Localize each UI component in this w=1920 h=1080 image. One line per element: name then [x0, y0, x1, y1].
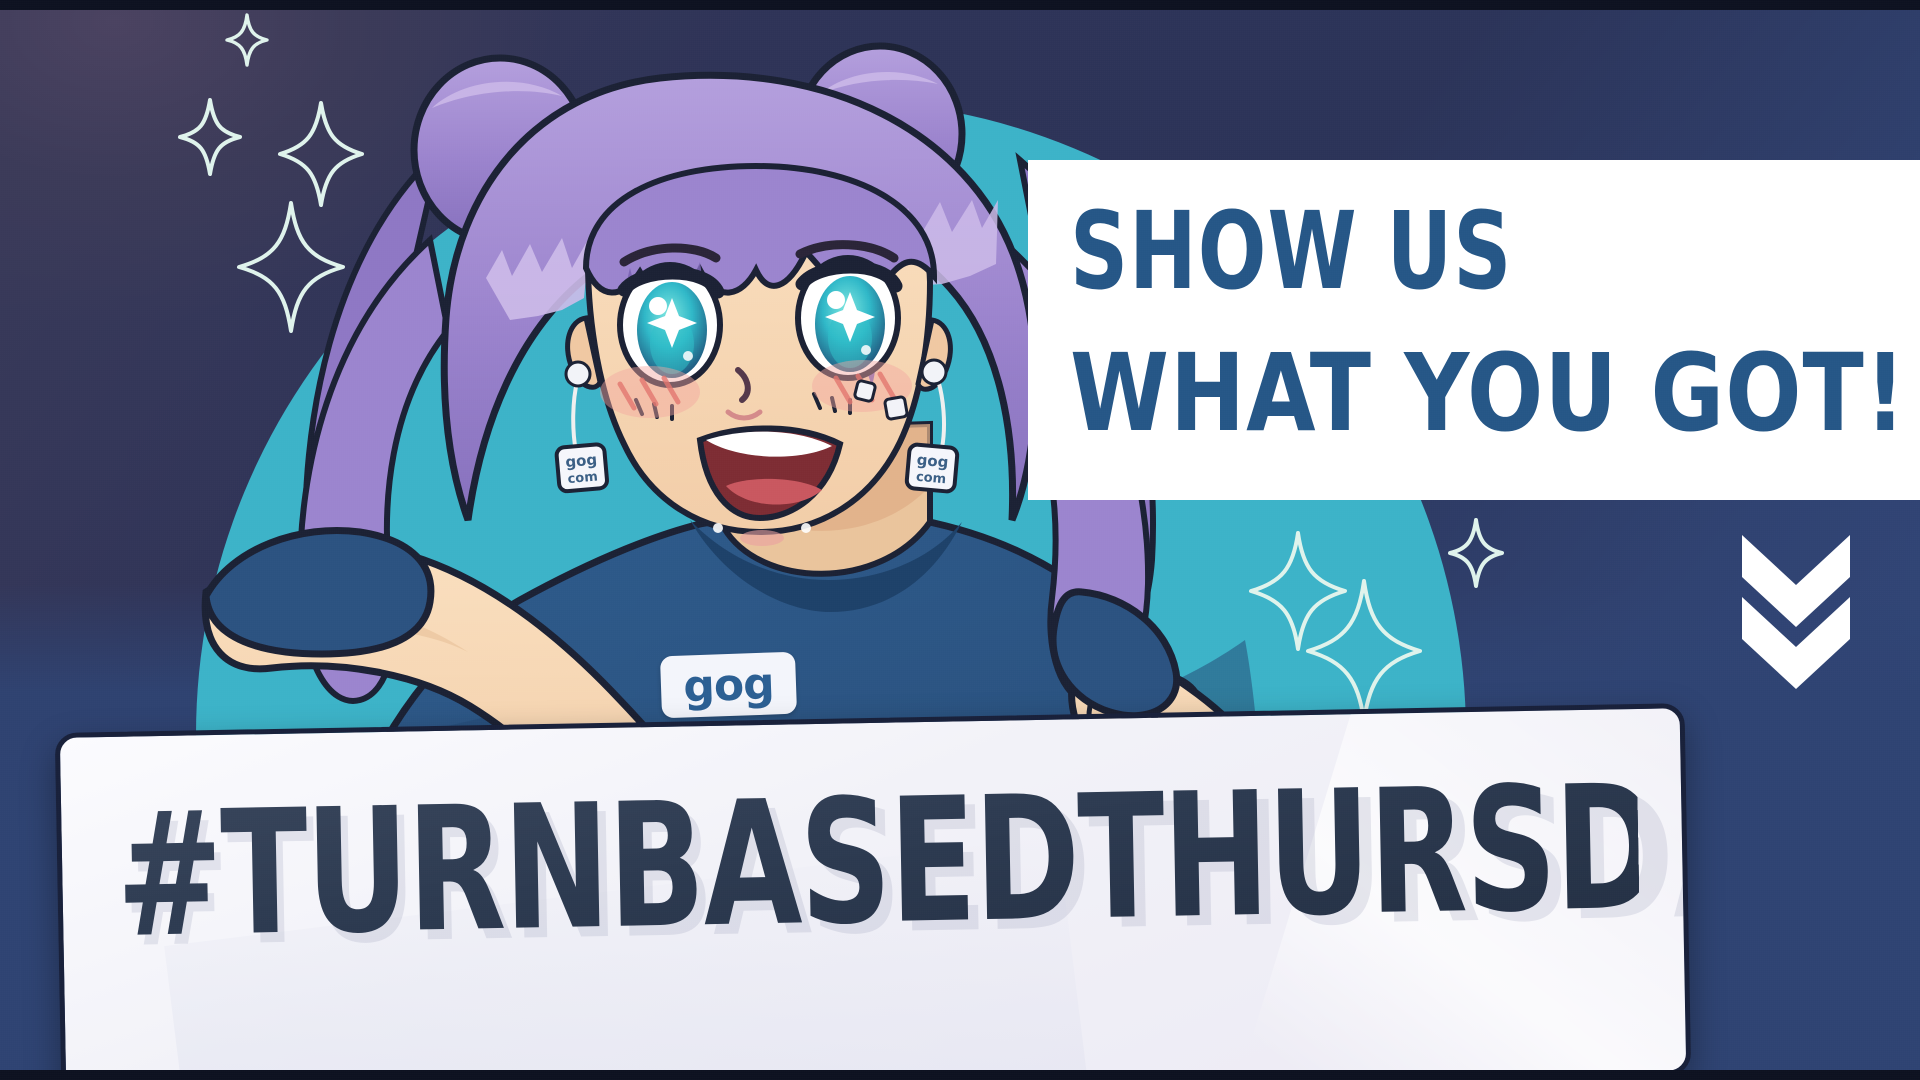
gog-shirt-badge: gog [660, 652, 797, 719]
speech-bubble-line-1: SHOW US [1070, 200, 1917, 303]
svg-text:gog: gog [916, 451, 949, 472]
sign-hashtag: #TURNBASEDTHURSDAY [115, 749, 1641, 977]
svg-text:com: com [567, 469, 598, 487]
speech-bubble-text: SHOW US WHAT YOU GOT! [1070, 200, 1900, 427]
double-chevron-down-icon [1736, 535, 1856, 700]
svg-text:gog: gog [565, 451, 598, 472]
svg-text:com: com [915, 470, 946, 488]
speech-bubble-line-2: WHAT YOU GOT! [1070, 342, 1917, 445]
promo-banner: gog com gog com [0, 0, 1920, 1080]
held-sign: #TURNBASEDTHURSDAY #TURNBASEDTHURSDAY [55, 703, 1692, 1080]
bottom-letterbox-band [0, 1070, 1920, 1080]
top-letterbox-band [0, 0, 1920, 10]
gog-badge-label: gog [683, 658, 775, 712]
